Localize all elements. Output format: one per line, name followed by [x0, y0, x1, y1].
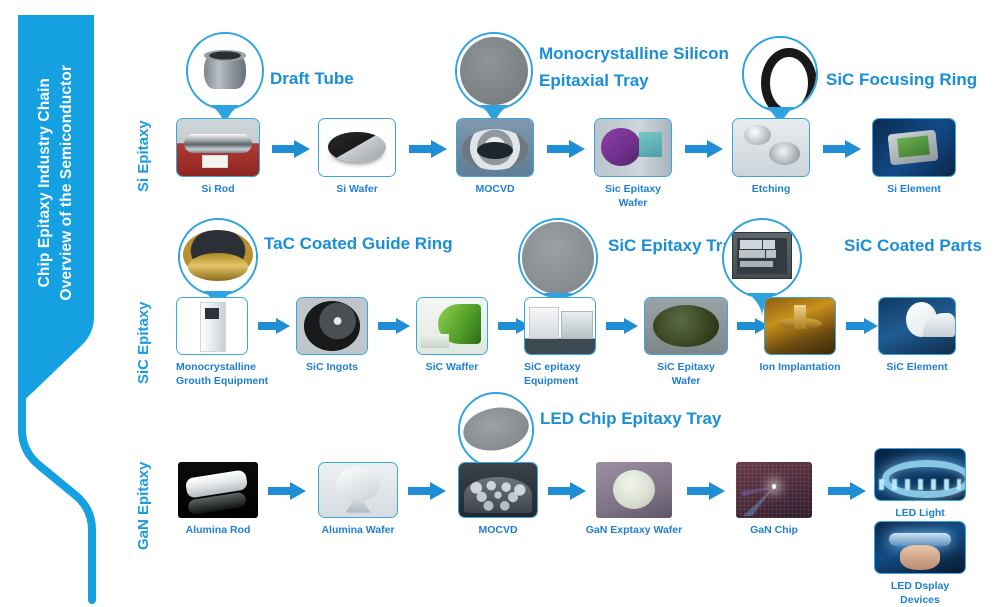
- step-mocvd-gan-caption: MOCVD: [458, 523, 538, 537]
- step-mocvd-gan-thumb[interactable]: [458, 462, 538, 518]
- epitaxial-tray-photo: [457, 34, 531, 108]
- step-led-display-devices-thumb[interactable]: [874, 521, 966, 574]
- step-sic-epitaxy-equipment-thumb[interactable]: [524, 297, 596, 355]
- step-etching-thumb[interactable]: [732, 118, 810, 177]
- arrow-monocrystalline-to-sic-ingots: [258, 318, 290, 334]
- step-si-wafer-caption: Si Wafer: [318, 182, 396, 196]
- step-sic-epitaxy-wafer-thumb[interactable]: [644, 297, 728, 355]
- title-banner: [0, 0, 140, 607]
- step-gan-epitaxy-wafer-thumb[interactable]: [596, 462, 672, 518]
- step-sic-element-caption: SiC Element: [878, 360, 956, 374]
- step-alumina-wafer-thumb[interactable]: [318, 462, 398, 518]
- step-si-wafer[interactable]: Si Wafer: [318, 118, 396, 196]
- callout-bubble-tac-coated-guide-ring: [178, 218, 258, 296]
- step-si-element-caption: Si Element: [872, 182, 956, 196]
- callout-bubble-epitaxial-tray: [455, 32, 533, 110]
- step-etching[interactable]: Etching: [732, 118, 810, 196]
- sic-epitaxy-tray-photo: [520, 220, 596, 296]
- sic-element-photo: [879, 298, 955, 354]
- sic-epitaxy-wafer-photo: [595, 119, 671, 176]
- callout-title-led-chip-epitaxy-tray: LED Chip Epitaxy Tray: [540, 405, 721, 432]
- step-gan-epitaxy-wafer-caption: GaN Exptaxy Wafer: [579, 523, 689, 537]
- step-si-rod-thumb[interactable]: [176, 118, 260, 177]
- step-si-element[interactable]: Si Element: [872, 118, 956, 196]
- step-sic-epitaxy-wafer-caption: SiC Epitaxy Wafer: [644, 360, 728, 388]
- step-alumina-rod-caption: Alumina Rod: [178, 523, 258, 537]
- arrow-alumina-wafer-to-mocvd: [408, 482, 446, 500]
- callout-bubble-led-chip-epitaxy-tray: [458, 392, 534, 468]
- arrow-gan-epitaxy-wafer-to-gan-chip: [687, 482, 725, 500]
- step-gan-chip-caption: GaN Chip: [736, 523, 812, 537]
- step-si-element-thumb[interactable]: [872, 118, 956, 177]
- arrow-alumina-rod-to-alumina-wafer: [268, 482, 306, 500]
- step-ion-implantation-thumb[interactable]: [764, 297, 836, 355]
- callout-bubble-sic-epitaxy-tray: [518, 218, 598, 298]
- alumina-rod-photo: [178, 462, 258, 518]
- si-rod-photo: [177, 119, 259, 176]
- sic-epitaxy-wafer2-photo: [645, 298, 727, 354]
- step-sic-epitaxy-wafer-si-thumb[interactable]: [594, 118, 672, 177]
- step-sic-ingots[interactable]: SiC Ingots: [296, 297, 368, 374]
- gan-epitaxy-wafer-photo: [596, 462, 672, 518]
- arrow-sic-epitaxy-equipment-to-sic-epitaxy-wafer: [606, 318, 638, 334]
- etching-photo: [733, 119, 809, 176]
- callout-title-tac-coated-guide-ring: TaC Coated Guide Ring: [264, 230, 453, 257]
- step-alumina-rod-thumb[interactable]: [178, 462, 258, 518]
- step-sic-epitaxy-wafer-si-caption: Sic Epitaxy Wafer: [594, 182, 672, 210]
- monocrystalline-growth-equipment-photo: [177, 298, 247, 354]
- step-alumina-wafer-caption: Alumina Wafer: [318, 523, 398, 537]
- arrow-ion-implantation-to-sic-element: [846, 318, 878, 334]
- callout-bubble-draft-tube: [186, 32, 264, 110]
- si-wafer-photo: [319, 119, 395, 176]
- led-light-photo: [875, 449, 965, 500]
- step-led-light[interactable]: LED Light: [874, 448, 966, 520]
- step-si-rod-caption: Si Rod: [176, 182, 260, 196]
- mocvd-led-photo: [459, 463, 537, 517]
- callout-title-epitaxial-tray: Monocrystalline Silicon Epitaxial Tray: [539, 40, 729, 94]
- arrow-sic-epitaxy-wafer-to-etching: [685, 140, 723, 158]
- arrow-etching-to-si-element: [823, 140, 861, 158]
- step-sic-epitaxy-equipment-caption: SiC epitaxy Equipment: [524, 360, 616, 388]
- mocvd-chamber-photo: [457, 119, 533, 176]
- arrow-gan-chip-to-led-light: [828, 482, 866, 500]
- step-etching-caption: Etching: [732, 182, 810, 196]
- step-sic-waffer-caption: SiC Waffer: [416, 360, 488, 374]
- row-label-si-epitaxy: Si Epitaxy: [135, 100, 152, 192]
- step-sic-element[interactable]: SiC Element: [878, 297, 956, 374]
- infographic-canvas: Overview of the Semiconductor Chip Epita…: [0, 0, 1000, 607]
- si-element-photo: [873, 119, 955, 176]
- step-mocvd-si-thumb[interactable]: [456, 118, 534, 177]
- step-mocvd-gan[interactable]: MOCVD: [458, 462, 538, 537]
- sic-ingots-photo: [297, 298, 367, 354]
- step-alumina-rod[interactable]: Alumina Rod: [178, 462, 258, 537]
- step-led-light-caption: LED Light: [874, 506, 966, 520]
- focusing-ring-photo: [744, 38, 816, 110]
- sic-waffer-photo: [417, 298, 487, 354]
- step-sic-ingots-thumb[interactable]: [296, 297, 368, 355]
- callout-title-sic-focusing-ring: SiC Focusing Ring: [826, 66, 977, 93]
- draft-tube-photo: [188, 34, 262, 108]
- ion-implantation-photo: [765, 298, 835, 354]
- step-sic-element-thumb[interactable]: [878, 297, 956, 355]
- step-ion-implantation[interactable]: Ion Implantation: [764, 297, 836, 374]
- step-sic-epitaxy-wafer-si[interactable]: Sic Epitaxy Wafer: [594, 118, 672, 210]
- gan-chip-photo: [736, 462, 812, 518]
- step-monocrystalline-growth-equipment[interactable]: Monocrystalline Grouth Equipment: [176, 297, 248, 388]
- step-sic-epitaxy-equipment[interactable]: SiC epitaxy Equipment: [524, 297, 596, 388]
- callout-title-draft-tube: Draft Tube: [270, 65, 354, 92]
- row-label-sic-epitaxy: SiC Epitaxy: [135, 280, 152, 384]
- step-si-wafer-thumb[interactable]: [318, 118, 396, 177]
- alumina-wafer-photo: [319, 463, 397, 517]
- step-mocvd-si-caption: MOCVD: [456, 182, 534, 196]
- step-alumina-wafer[interactable]: Alumina Wafer: [318, 462, 398, 537]
- step-sic-ingots-caption: SiC Ingots: [296, 360, 368, 374]
- step-led-display-devices-caption: LED Dsplay Devices: [874, 579, 966, 607]
- step-gan-epitaxy-wafer[interactable]: GaN Exptaxy Wafer: [596, 462, 672, 537]
- step-si-rod[interactable]: Si Rod: [176, 118, 260, 196]
- tac-coated-guide-ring-photo: [180, 220, 256, 294]
- arrow-si-rod-to-si-wafer: [272, 140, 310, 158]
- arrow-si-wafer-to-mocvd: [409, 140, 447, 158]
- step-sic-waffer[interactable]: SiC Waffer: [416, 297, 488, 374]
- sic-coated-parts-photo: [732, 232, 793, 279]
- step-mocvd-si[interactable]: MOCVD: [456, 118, 534, 196]
- callout-title-sic-coated-parts: SiC Coated Parts: [844, 232, 982, 259]
- step-monocrystalline-growth-equipment-thumb[interactable]: [176, 297, 248, 355]
- arrow-sic-ingots-to-sic-waffer: [378, 318, 410, 334]
- row-label-gan-epitaxy: GaN Epitaxy: [135, 440, 152, 550]
- callout-bubble-sic-focusing-ring: [742, 36, 818, 112]
- step-monocrystalline-growth-equipment-caption: Monocrystalline Grouth Equipment: [176, 360, 276, 388]
- sic-epitaxy-equipment-photo: [525, 298, 595, 354]
- arrow-mocvd-to-sic-epitaxy-wafer: [547, 140, 585, 158]
- arrow-mocvd-to-gan-epitaxy-wafer: [548, 482, 586, 500]
- callout-bubble-sic-coated-parts: [722, 218, 802, 298]
- step-sic-waffer-thumb[interactable]: [416, 297, 488, 355]
- led-display-devices-photo: [875, 522, 965, 573]
- step-gan-chip[interactable]: GaN Chip: [736, 462, 812, 537]
- step-ion-implantation-caption: Ion Implantation: [752, 360, 848, 374]
- led-chip-epitaxy-tray-photo: [460, 394, 532, 466]
- step-led-display-devices[interactable]: LED Dsplay Devices: [874, 521, 966, 607]
- step-led-light-thumb[interactable]: [874, 448, 966, 501]
- step-gan-chip-thumb[interactable]: [736, 462, 812, 518]
- step-sic-epitaxy-wafer[interactable]: SiC Epitaxy Wafer: [644, 297, 728, 388]
